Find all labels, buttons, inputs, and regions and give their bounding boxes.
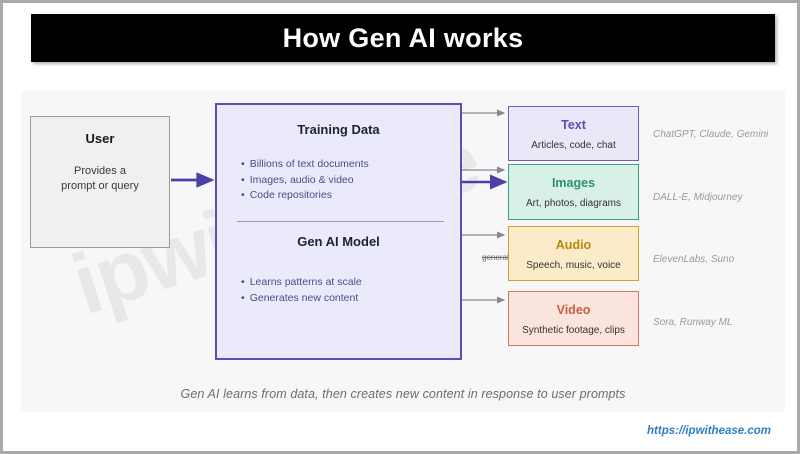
user-node-subtitle: Provides a prompt or query: [31, 164, 169, 194]
output-title-images: Images: [509, 176, 638, 190]
vendor-label-video: Sora, Runway ML: [653, 317, 732, 328]
output-subtitle-audio: Speech, music, voice: [509, 260, 638, 271]
vendor-label-audio: ElevenLabs, Suno: [653, 254, 734, 265]
site-url-link[interactable]: https://ipwithease.com: [647, 425, 771, 437]
gen-ai-model-bullets: Learns patterns at scale Generates new c…: [241, 275, 362, 306]
training-data-bullets: Billions of text documents Images, audio…: [241, 157, 369, 204]
output-subtitle-images: Art, photos, diagrams: [509, 198, 638, 209]
training-bullet: Code repositories: [241, 188, 369, 204]
training-bullet: Images, audio & video: [241, 173, 369, 189]
user-node[interactable]: User Provides a prompt or query: [30, 116, 170, 248]
page-title: How Gen AI works: [283, 23, 524, 54]
output-title-audio: Audio: [509, 238, 638, 252]
section-divider: [237, 221, 444, 222]
output-title-video: Video: [509, 303, 638, 317]
caption-row: Gen AI learns from data, then creates ne…: [21, 376, 785, 412]
training-data-title: Training Data: [217, 122, 460, 137]
pipeline-node[interactable]: Training Data Billions of text documents…: [215, 103, 462, 360]
vendor-label-text: ChatGPT, Claude, Gemini: [653, 129, 768, 140]
model-bullet: Learns patterns at scale: [241, 275, 362, 291]
user-line-1: Provides a: [74, 165, 126, 177]
title-banner: How Gen AI works: [31, 14, 775, 62]
training-bullet: Billions of text documents: [241, 157, 369, 173]
output-title-text: Text: [509, 118, 638, 132]
user-line-2: prompt or query: [61, 180, 139, 192]
diagram-frame: How Gen AI works ipwithease ge: [0, 0, 800, 454]
diagram-caption: Gen AI learns from data, then creates ne…: [181, 387, 626, 401]
vendor-label-images: DALL-E, Midjourney: [653, 192, 742, 203]
output-node-video[interactable]: Video Synthetic footage, clips: [508, 291, 639, 346]
user-node-title: User: [31, 131, 169, 146]
output-node-audio[interactable]: Audio Speech, music, voice: [508, 226, 639, 281]
output-subtitle-video: Synthetic footage, clips: [509, 325, 638, 336]
output-node-images[interactable]: Images Art, photos, diagrams: [508, 164, 639, 220]
model-bullet: Generates new content: [241, 291, 362, 307]
output-subtitle-text: Articles, code, chat: [509, 140, 638, 151]
gen-ai-model-title: Gen AI Model: [217, 234, 460, 249]
output-node-text[interactable]: Text Articles, code, chat: [508, 106, 639, 161]
